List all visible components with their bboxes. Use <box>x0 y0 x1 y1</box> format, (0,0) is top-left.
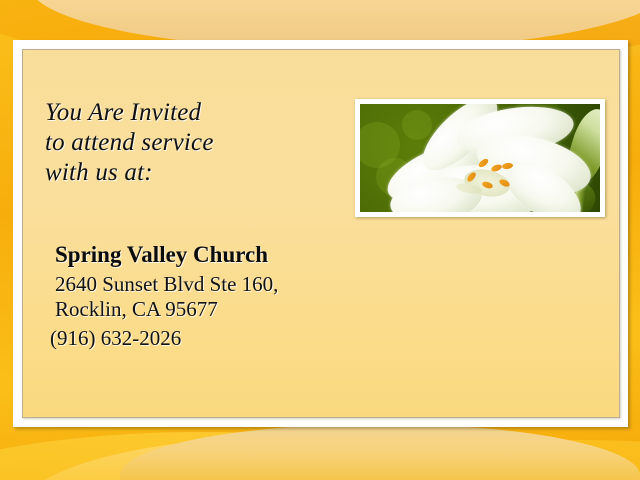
address-line-2: Rocklin, CA 95677 <box>55 297 395 322</box>
invitation-headline: You Are Invited to attend service with u… <box>45 98 345 188</box>
headline-line-2: to attend service <box>45 128 345 158</box>
address-line-1: 2640 Sunset Blvd Ste 160, <box>55 272 395 297</box>
organization-name: Spring Valley Church <box>55 242 268 268</box>
address-block: 2640 Sunset Blvd Ste 160, Rocklin, CA 95… <box>55 272 395 322</box>
headline-line-1: You Are Invited <box>45 98 345 128</box>
photo-bokeh-3 <box>402 110 432 140</box>
easter-lily-photo <box>360 104 600 212</box>
invitation-slide: You Are Invited to attend service with u… <box>0 0 640 480</box>
phone-number: (916) 632-2026 <box>50 326 181 351</box>
headline-line-3: with us at: <box>45 158 345 188</box>
photo-frame <box>355 99 605 217</box>
